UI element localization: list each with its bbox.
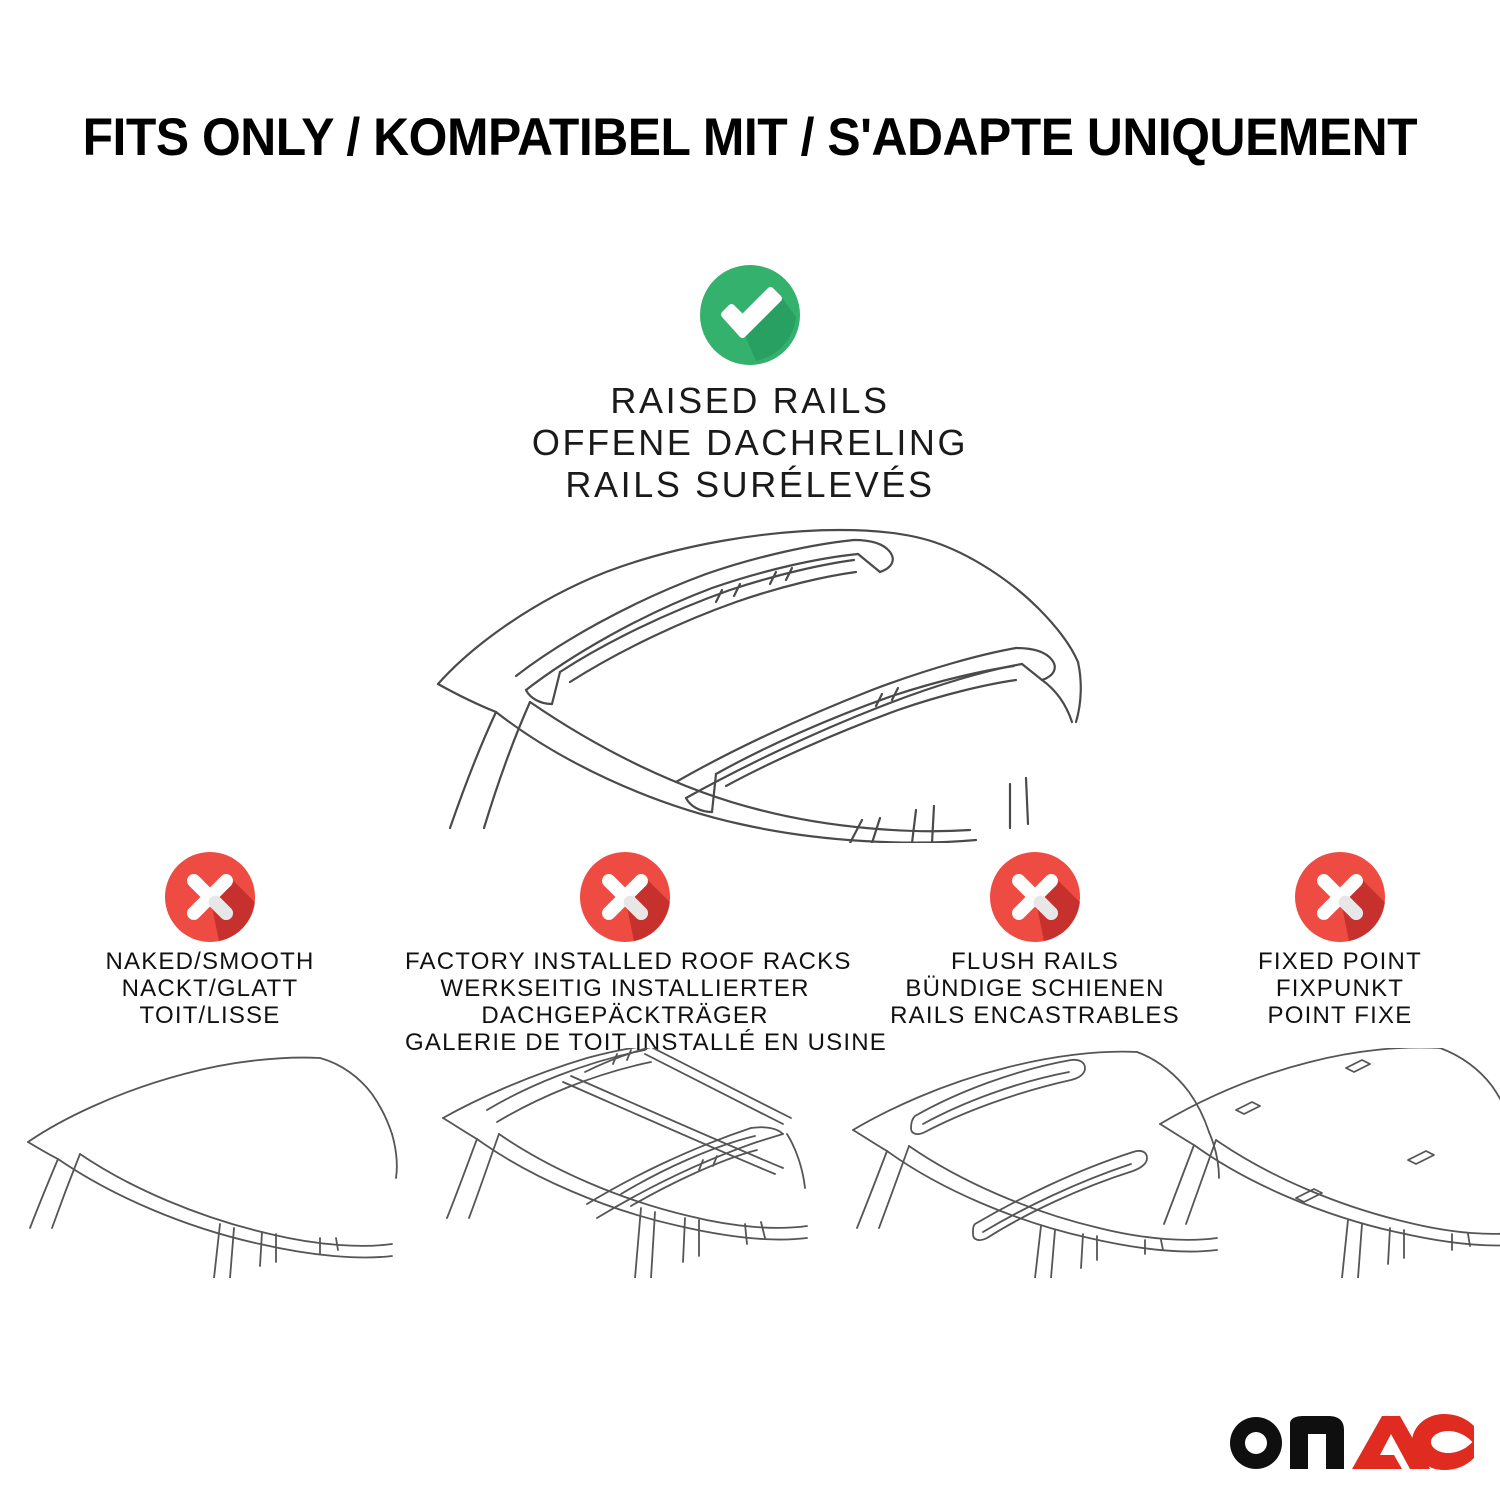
car-roof-naked-smooth-illustration [20,1048,400,1278]
omac-logo-text: OMAC [1222,1472,1223,1473]
label-line-2: WERKSEITIG INSTALLIERTER [405,975,845,1002]
hero-label-line-1: RAISED RAILS [350,380,1150,422]
page-title-text: FITS ONLY / KOMPATIBEL MIT / S'ADAPTE UN… [83,108,1418,168]
label-line-2: NACKT/GLATT [20,975,400,1002]
label-line-3: TOIT/LISSE [20,1002,400,1029]
check-circle-icon [700,265,800,365]
car-roof-with-factory-crossbars-illustration [435,1048,815,1278]
car-roof-with-raised-rails-illustration [410,498,1090,843]
cross-circle-icon [1295,852,1385,942]
page-title: FITS ONLY / KOMPATIBEL MIT / S'ADAPTE UN… [0,108,1500,168]
label-line-1: NAKED/SMOOTH [20,948,400,975]
cross-circle-icon [165,852,255,942]
infographic-page: FITS ONLY / KOMPATIBEL MIT / S'ADAPTE UN… [0,0,1500,1500]
column-label-naked-smooth: NAKED/SMOOTH NACKT/GLATT TOIT/LISSE [20,948,400,1029]
label-line-3: DACHGEPÄCKTRÄGER [405,1002,845,1029]
hero-label-line-2: OFFENE DACHRELING [350,422,1150,464]
column-label-fixed-point: FIXED POINT FIXPUNKT POINT FIXE [1150,948,1500,1029]
column-label-factory-roof-racks: FACTORY INSTALLED ROOF RACKS WERKSEITIG … [405,948,845,1056]
hero-label: RAISED RAILS OFFENE DACHRELING RAILS SUR… [350,380,1150,506]
omac-logo: OMAC [1222,1410,1474,1472]
label-line-1: FIXED POINT [1150,948,1500,975]
car-roof-with-fixed-points-illustration [1150,1048,1500,1278]
label-line-2: FIXPUNKT [1150,975,1500,1002]
label-line-1: FACTORY INSTALLED ROOF RACKS [405,948,845,975]
cross-circle-icon [990,852,1080,942]
cross-circle-icon [580,852,670,942]
label-line-3: POINT FIXE [1150,1002,1500,1029]
